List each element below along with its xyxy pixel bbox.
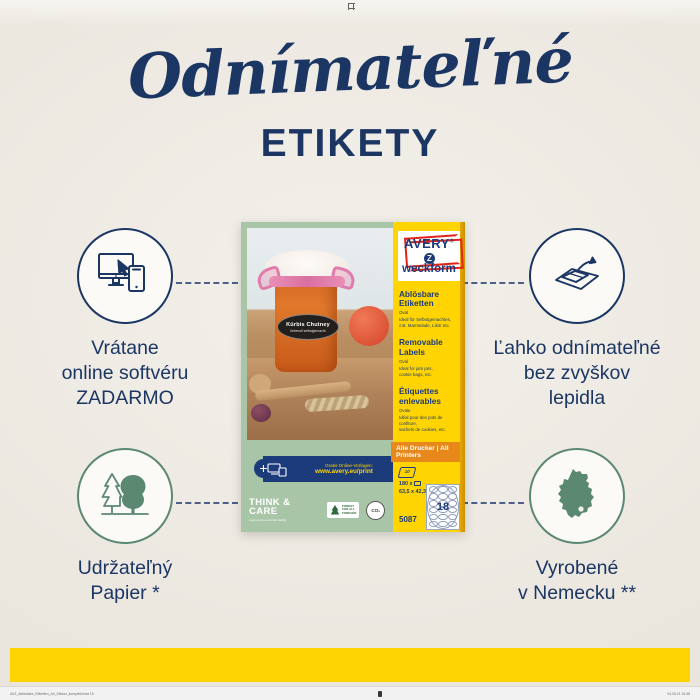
plum-prop <box>251 404 271 422</box>
feature-icon-circle <box>529 228 625 324</box>
article-number: 5087 <box>399 515 417 524</box>
eco-certification-band: THINK & CARE www.avery.eu/sustainability… <box>241 488 393 532</box>
feature-made-in-germany: Vyrobené v Nemecku ** <box>472 448 682 606</box>
online-templates-url: www.avery.eu/print <box>315 468 373 475</box>
feature-icon-circle <box>77 228 173 324</box>
fsc-certification-logo: FOREST FOR ALL FOREVER <box>327 502 360 518</box>
online-templates-banner: + Gratis Online-Vorlagen: www.avery.eu/p… <box>263 456 393 482</box>
online-templates-text: Gratis Online-Vorlagen: www.avery.eu/pri… <box>315 463 373 476</box>
feature-icon-circle <box>77 448 173 544</box>
registration-mark-top <box>348 3 355 10</box>
jar-oval-label: Kürbis Chutney liebevoll selbstgemacht <box>277 314 339 340</box>
avery-text: AVERY <box>404 236 450 251</box>
viewer-status-bar: AVZ_Ablösbare_Etiketten_A4_Sticker_kompl… <box>0 686 700 700</box>
feature-label: Udržateľný Papier * <box>20 556 230 606</box>
viewer-center-marker <box>378 691 382 697</box>
package-front-panel: Kürbis Chutney liebevoll selbstgemacht + <box>241 222 393 532</box>
think-care-text: THINK & CARE <box>249 497 290 518</box>
zweckform-wordmark: Zweckform <box>401 252 457 276</box>
feature-removable: Ľahko odnímateľné bez zvyškov lepidla <box>472 228 682 411</box>
sheet-count-badge: 10 <box>398 467 417 478</box>
co2-certification-logo: CO₂ <box>366 501 385 520</box>
poster-canvas: Odnímateľné ETIKETY Vrátane online s <box>0 0 700 700</box>
monitor-phone-cursor-icon <box>96 250 154 303</box>
footer-yellow-bar <box>10 648 690 682</box>
devices-icon <box>267 462 289 482</box>
product-photo: Kürbis Chutney liebevoll selbstgemacht <box>247 228 393 440</box>
printer-compatibility-bar: Alle Drucker | All Printers <box>391 442 465 462</box>
fsc-label: FOREST FOR ALL FOREVER <box>342 505 357 514</box>
package-info-panel: AVERY® Zweckform Ablösbare Etiketten Ova… <box>393 222 465 532</box>
zweckform-text: weckform <box>402 263 456 275</box>
germany-map-icon <box>554 467 600 526</box>
label-sheet-diagram: 18 <box>426 484 460 530</box>
page-title: Odnímateľné ETIKETY <box>0 38 700 166</box>
feature-label: Vyrobené v Nemecku ** <box>472 556 682 606</box>
feature-label: Vrátane online softvéru ZADARMO <box>20 336 230 411</box>
feature-icon-circle <box>529 448 625 544</box>
label-quantity: 180 x <box>399 481 413 487</box>
jar-ribbon <box>269 276 345 287</box>
jar-label-name: Kürbis Chutney <box>286 322 330 328</box>
label-shape-icon <box>414 481 421 486</box>
block-sub-en: Oval Ideal for jam jars, cookie bags, et… <box>399 359 459 378</box>
think-care-url: www.avery.eu/sustainability <box>249 519 320 522</box>
product-package: Kürbis Chutney liebevoll selbstgemacht + <box>241 222 465 532</box>
jar-label-sub: liebevoll selbstgemacht <box>290 329 325 333</box>
labels-per-sheet-count: 18 <box>427 485 459 529</box>
tomato-prop <box>349 306 389 346</box>
block-sub-fr: Ovale Idéal pour des pots de confiture, … <box>399 408 459 434</box>
feature-label: Ľahko odnímateľné bez zvyškov lepidla <box>472 336 682 411</box>
block-title-fr: Étiquettes enlevables <box>399 387 459 406</box>
avery-wordmark: AVERY® <box>401 237 457 250</box>
feature-sustainable-paper: Udržateľný Papier * <box>20 448 230 606</box>
peeling-label-icon <box>548 249 606 304</box>
feature-online-software: Vrátane online softvéru ZADARMO <box>20 228 230 411</box>
trees-icon <box>96 469 154 524</box>
block-title-de: Ablösbare Etiketten <box>399 290 459 309</box>
avery-zweckform-logo: AVERY® Zweckform <box>398 231 460 281</box>
block-title-en: Removable Labels <box>399 338 459 357</box>
block-sub-de: Oval Ideal für Selbstgemachtes, z.B. Mar… <box>399 310 459 329</box>
package-specs: 10 180 x 63,5 x 42,3 mm 18 <box>393 462 465 496</box>
think-care-logo: THINK & CARE www.avery.eu/sustainability <box>249 498 320 522</box>
trademark-symbol: ® <box>450 239 454 245</box>
viewer-timestamp: 04.05.21 15:38 <box>667 692 690 696</box>
viewer-filename: AVZ_Ablösbare_Etiketten_A4_Sticker_kompl… <box>10 692 94 696</box>
package-text-blocks: Ablösbare Etiketten Oval Ideal für Selbs… <box>393 290 465 434</box>
headline-script: Odnímateľné <box>127 29 574 108</box>
headline-subtitle: ETIKETY <box>0 122 700 166</box>
